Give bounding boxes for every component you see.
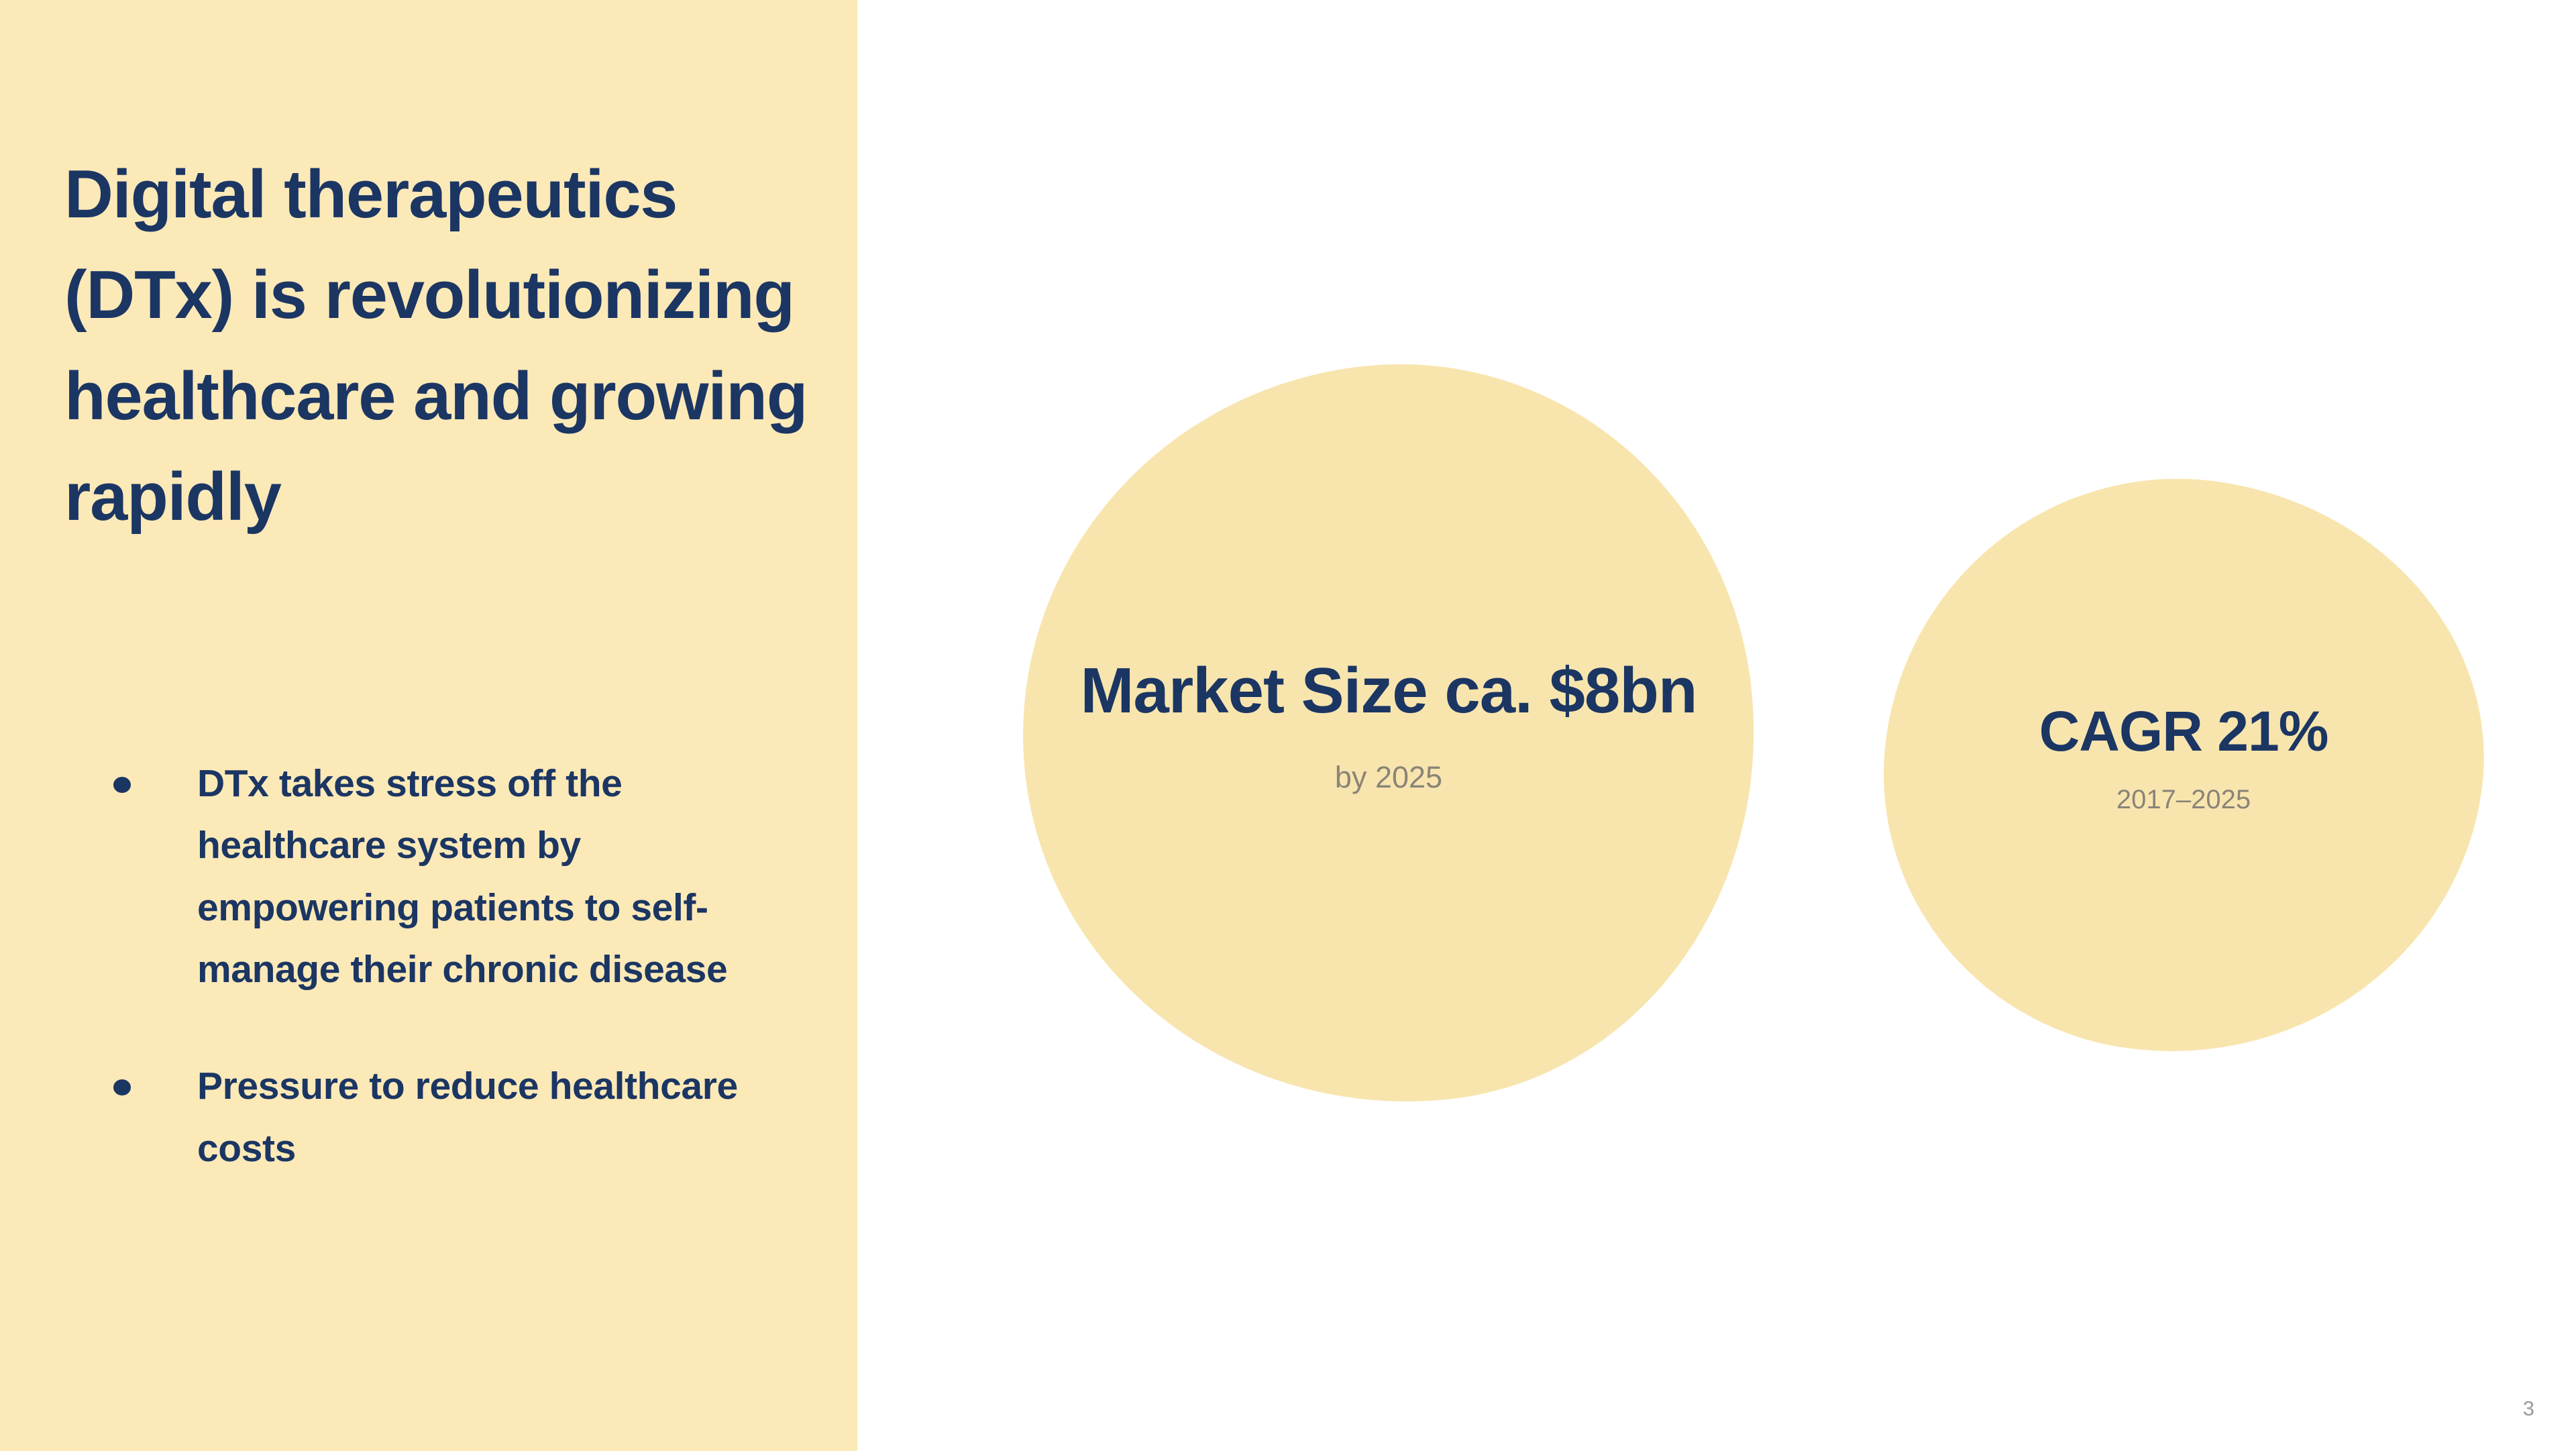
stat-blob-market-size: Market Size ca. $8bn by 2025: [1023, 366, 1754, 1104]
stat-subtitle: by 2025: [1023, 760, 1754, 795]
stat-heading: CAGR 21%: [1885, 698, 2482, 765]
list-item-label: Pressure to reduce healthcare costs: [197, 1065, 738, 1169]
list-item: Pressure to reduce healthcare costs: [87, 1055, 798, 1179]
list-item-label: DTx takes stress off the healthcare syst…: [197, 762, 727, 991]
stat-content: CAGR 21% 2017–2025: [1885, 718, 2482, 816]
page-title: Digital therapeutics (DTx) is revolution…: [64, 144, 816, 548]
stat-content: Market Size ca. $8bn by 2025: [1023, 674, 1754, 794]
stat-heading: Market Size ca. $8bn: [1023, 651, 1754, 730]
list-item: DTx takes stress off the healthcare syst…: [87, 753, 798, 1000]
left-content-panel: Digital therapeutics (DTx) is revolution…: [0, 0, 857, 1451]
stat-subtitle: 2017–2025: [1885, 785, 2482, 815]
bullet-dot-icon: [113, 1079, 131, 1095]
stat-blob-cagr: CAGR 21% 2017–2025: [1885, 480, 2482, 1053]
bullet-list: DTx takes stress off the healthcare syst…: [87, 753, 798, 1179]
page-number: 3: [2523, 1397, 2534, 1421]
bullet-dot-icon: [113, 777, 131, 793]
stats-area: Market Size ca. $8bn by 2025 CAGR 21% 20…: [857, 0, 2576, 1451]
